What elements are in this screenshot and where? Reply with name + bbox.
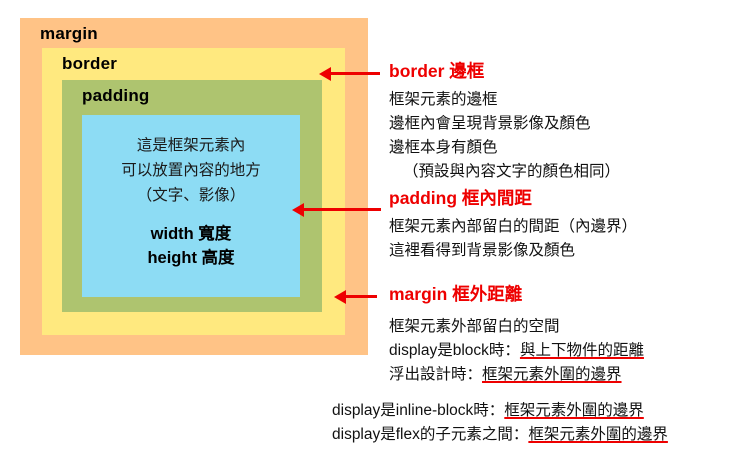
annotation-line: 這裡看得到背景影像及顏色 (389, 239, 637, 263)
annotation-line: 框架元素內部留白的間距（內邊界） (389, 215, 637, 239)
margin-annotation-heading: margin 框外距離 (389, 283, 644, 305)
annotation-rule-emphasis: 框架元素外圍的邊界 (504, 402, 644, 419)
margin-callout-arrow-icon (345, 295, 377, 298)
border-annotation-heading: border 邊框 (389, 60, 620, 82)
annotation-line: （預設與內容文字的顏色相同） (389, 160, 620, 184)
extra-rules-annotation: display是inline-block時：框架元素外圍的邊界 display是… (332, 399, 668, 447)
annotation-rule-prefix: display是flex的子元素之間： (332, 426, 528, 443)
annotation-rule-prefix: display是inline-block時： (332, 402, 504, 419)
annotation-rule-emphasis: 與上下物件的距離 (520, 342, 644, 359)
border-callout-arrow-icon (330, 72, 380, 75)
annotation-rule: display是block時：與上下物件的距離 (389, 339, 644, 363)
content-line: （文字、影像） (137, 183, 246, 208)
padding-annotation: padding 框內間距 框架元素內部留白的間距（內邊界） 這裡看得到背景影像及… (389, 187, 637, 263)
annotation-line: 邊框內會呈現背景影像及顏色 (389, 112, 620, 136)
padding-annotation-lines: 框架元素內部留白的間距（內邊界） 這裡看得到背景影像及顏色 (389, 215, 637, 263)
padding-callout-arrow-icon (303, 208, 381, 211)
margin-annotation-lines: 框架元素外部留白的空間 display是block時：與上下物件的距離 浮出設計… (389, 315, 644, 387)
box-model-diagram: margin border padding 這是框架元素內 可以放置內容的地方 … (20, 18, 368, 355)
content-dimensions: width 寬度 height 高度 (147, 222, 234, 270)
annotation-line: 框架元素的邊框 (389, 88, 620, 112)
annotation-rule-emphasis: 框架元素外圍的邊界 (528, 426, 668, 443)
annotation-rule: display是flex的子元素之間：框架元素外圍的邊界 (332, 423, 668, 447)
annotation-rule-prefix: 浮出設計時： (389, 366, 482, 383)
annotation-rule-emphasis: 框架元素外圍的邊界 (482, 366, 622, 383)
border-annotation: border 邊框 框架元素的邊框 邊框內會呈現背景影像及顏色 邊框本身有顏色 … (389, 60, 620, 184)
border-layer: border padding 這是框架元素內 可以放置內容的地方 （文字、影像）… (42, 48, 345, 335)
padding-annotation-heading: padding 框內間距 (389, 187, 637, 209)
padding-layer: padding 這是框架元素內 可以放置內容的地方 （文字、影像） width … (62, 80, 322, 312)
margin-layer-label: margin (40, 24, 98, 44)
border-annotation-lines: 框架元素的邊框 邊框內會呈現背景影像及顏色 邊框本身有顏色 （預設與內容文字的顏… (389, 88, 620, 184)
margin-annotation: margin 框外距離 框架元素外部留白的空間 display是block時：與… (389, 283, 644, 387)
content-line: 可以放置內容的地方 (121, 158, 261, 183)
annotation-rule-prefix: display是block時： (389, 342, 520, 359)
content-line: 這是框架元素內 (137, 133, 246, 158)
annotation-line: 邊框本身有顏色 (389, 136, 620, 160)
annotation-rule: display是inline-block時：框架元素外圍的邊界 (332, 399, 668, 423)
content-width-label: width 寬度 (147, 222, 234, 246)
content-height-label: height 高度 (147, 246, 234, 270)
border-layer-label: border (62, 54, 117, 74)
content-layer: 這是框架元素內 可以放置內容的地方 （文字、影像） width 寬度 heigh… (82, 115, 300, 297)
annotation-rule: 浮出設計時：框架元素外圍的邊界 (389, 363, 644, 387)
annotation-column: border 邊框 框架元素的邊框 邊框內會呈現背景影像及顏色 邊框本身有顏色 … (389, 0, 750, 461)
annotation-line: 框架元素外部留白的空間 (389, 315, 644, 339)
padding-layer-label: padding (82, 86, 150, 106)
